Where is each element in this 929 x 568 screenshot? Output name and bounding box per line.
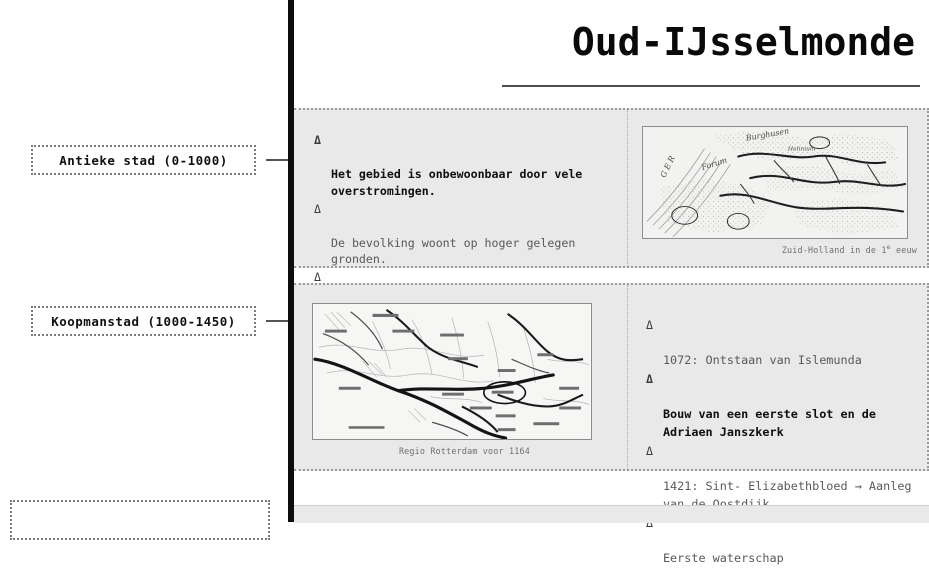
figure-zuid-holland: G E R Forum Burghusen Helinium Zuid-Holl… xyxy=(642,126,917,255)
svg-text:Helinium: Helinium xyxy=(787,147,816,153)
list-item: Δ De bevolking woont op hoger gelegen gr… xyxy=(314,201,613,269)
figure-caption-main: Regio Rotterdam voor 1164 xyxy=(399,446,530,456)
content-panel-antieke-stad: Δ Het gebied is onbewoonbaar door vele o… xyxy=(294,108,929,268)
timeline-column: Antieke stad (0-1000) Koopmanstad (1000-… xyxy=(0,0,288,522)
timeline-item-antieke-stad[interactable]: Antieke stad (0-1000) xyxy=(31,145,256,175)
panel-figure-cell: Regio Rotterdam voor 1164 xyxy=(294,285,628,469)
timeline-connector-2 xyxy=(266,320,288,322)
figure-caption: Regio Rotterdam voor 1164 xyxy=(312,444,617,456)
figure-caption: Zuid-Holland in de 1e eeuw xyxy=(642,243,917,255)
list-item: Δ 1072: Ontstaan van Islemunda xyxy=(646,317,917,370)
panel-text-cell: Δ 1072: Ontstaan van Islemunda Δ Bouw va… xyxy=(628,285,927,469)
timeline-item-next[interactable] xyxy=(10,500,270,540)
list-item-text: Bouw van een eerste slot en de Adriaen J… xyxy=(663,407,876,439)
page-title: Oud-IJsselmonde xyxy=(572,22,919,63)
list-item-text: De bevolking woont op hoger gelegen gron… xyxy=(331,236,575,267)
figure-regio-rotterdam: Regio Rotterdam voor 1164 xyxy=(312,303,617,456)
triangle-bullet-icon: Δ xyxy=(646,317,653,334)
timeline-item-koopmanstad[interactable]: Koopmanstad (1000-1450) xyxy=(31,306,256,336)
triangle-bullet-icon: Δ xyxy=(314,132,321,149)
historic-map-image: G E R Forum Burghusen Helinium xyxy=(642,126,908,239)
list-item: Δ Bouw van een eerste slot en de Adriaen… xyxy=(646,371,917,442)
figure-caption-tail: eeuw xyxy=(891,245,917,255)
triangle-bullet-icon: Δ xyxy=(646,443,653,460)
content-panel-koopmanstad: Regio Rotterdam voor 1164 Δ 1072: Ontsta… xyxy=(294,283,929,471)
list-item-text: 1072: Ontstaan van Islemunda xyxy=(663,353,862,367)
list-item-text: Het gebied is onbewoonbaar door vele ove… xyxy=(331,167,582,198)
region-map-image xyxy=(312,303,592,440)
content-column: Oud-IJsselmonde Δ Het gebied is onbewoon… xyxy=(294,0,929,522)
page-title-wrap: Oud-IJsselmonde xyxy=(294,22,919,63)
triangle-bullet-icon: Δ xyxy=(314,201,321,218)
panel-text-cell: Δ Het gebied is onbewoonbaar door vele o… xyxy=(294,110,628,266)
timeline-item-label: Koopmanstad (1000-1450) xyxy=(51,314,236,329)
list-item: Δ Het gebied is onbewoonbaar door vele o… xyxy=(314,132,613,200)
slide-canvas: Antieke stad (0-1000) Koopmanstad (1000-… xyxy=(0,0,929,522)
title-underline xyxy=(502,85,920,87)
list-item-text: Eerste waterschap xyxy=(663,551,784,565)
figure-caption-main: Zuid-Holland in de 1 xyxy=(782,245,887,255)
panel-figure-cell: G E R Forum Burghusen Helinium Zuid-Holl… xyxy=(628,110,927,266)
triangle-bullet-icon: Δ xyxy=(646,371,653,388)
timeline-connector-1 xyxy=(266,159,288,161)
timeline-item-label: Antieke stad (0-1000) xyxy=(59,153,228,168)
bullet-list: Δ 1072: Ontstaan van Islemunda Δ Bouw va… xyxy=(646,317,917,568)
list-item: Δ 1421: Sint- Elizabethbloed → Aanleg va… xyxy=(646,443,917,514)
bottom-strip xyxy=(294,505,929,523)
